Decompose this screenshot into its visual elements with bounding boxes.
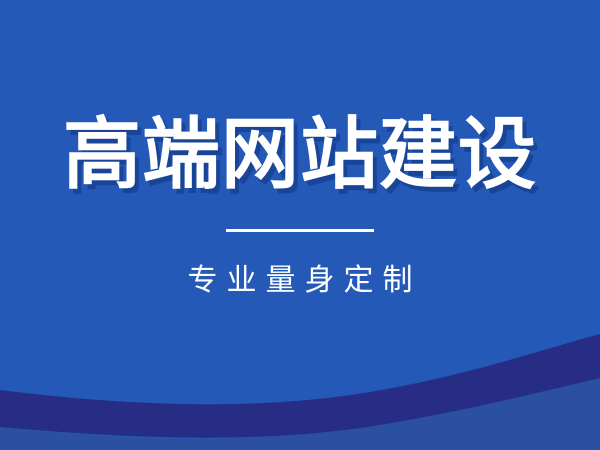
promo-banner: 高端网站建设 专业量身定制 [0, 0, 600, 450]
title-divider [226, 229, 374, 232]
page-title: 高端网站建设 [63, 114, 537, 196]
page-subtitle: 专业量身定制 [179, 264, 422, 297]
banner-content: 高端网站建设 专业量身定制 [0, 0, 600, 450]
